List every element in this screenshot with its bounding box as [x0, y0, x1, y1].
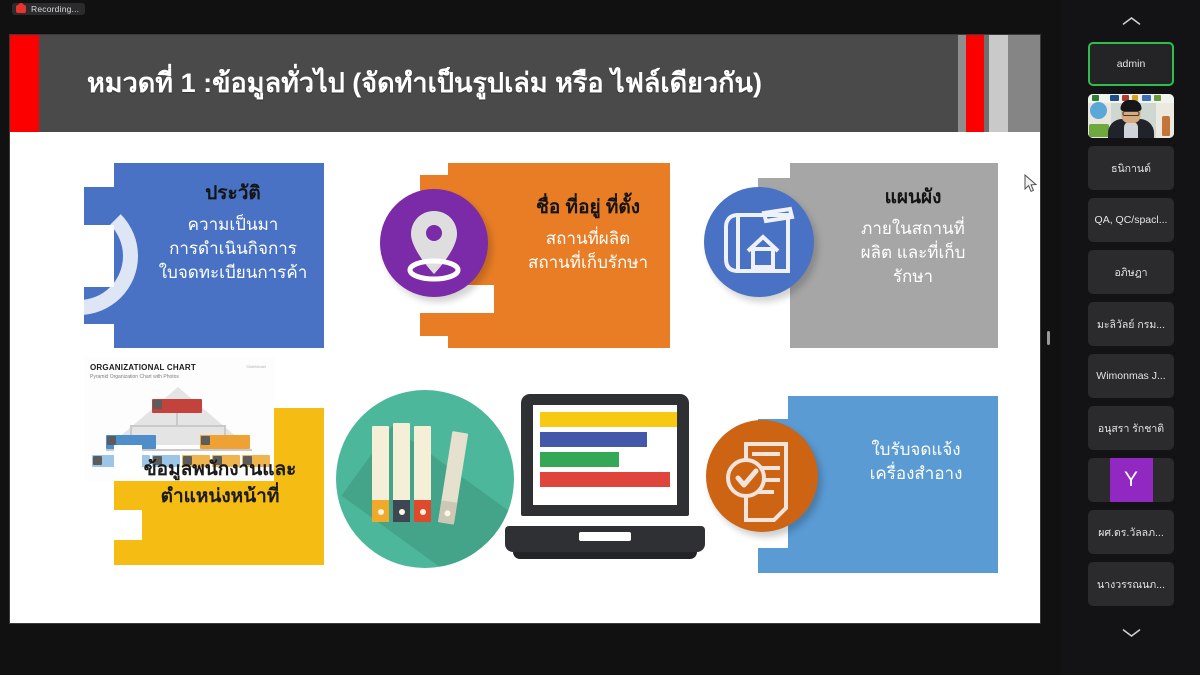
participant-tile-10[interactable]: ผศ.ดร.วัลลภ... — [1088, 510, 1174, 554]
slide-title-bar: หมวดที่ 1 :ข้อมูลทั่วไป (จัดทำเป็นรูปเล่… — [10, 35, 1040, 132]
participant-tile-4[interactable]: QA, QC/spacl... — [1088, 198, 1174, 242]
participant-tile-list: admin — [1088, 42, 1174, 606]
card-staff-line-1: ข้อมูลพนักงานและ — [120, 457, 320, 484]
card-history: ประวัติ ความเป็นมา การดำเนินกิจการ ใบจดท… — [84, 163, 324, 348]
participant-name: ธนิกานต์ — [1092, 160, 1170, 177]
participant-tile-6[interactable]: มะลิวัลย์ กรม... — [1088, 302, 1174, 346]
document-check-glyph — [706, 420, 818, 532]
card-certificate-line-2: เครื่องสำอาง — [828, 462, 1004, 486]
card-history-line-2: การดำเนินกิจการ — [138, 237, 328, 261]
participant-name: admin — [1094, 58, 1168, 70]
panel-resize-handle[interactable] — [1047, 331, 1050, 345]
laptop-screen-chart — [533, 405, 677, 505]
chart-bar-4 — [540, 472, 670, 487]
recording-label: Recording... — [31, 4, 79, 14]
card-certificate: ใบรับจดแจ้ง เครื่องสำอาง — [758, 396, 998, 573]
participant-tile-5[interactable]: อภิษฎา — [1088, 250, 1174, 294]
participant-tile-7[interactable]: Wimonmas J... — [1088, 354, 1174, 398]
card-location-line-2: สถานที่เก็บรักษา — [498, 251, 678, 275]
chart-bar-1 — [540, 412, 677, 427]
mouse-pointer — [1024, 174, 1038, 193]
laptop-lid — [521, 394, 689, 516]
chart-bar-3 — [540, 452, 619, 467]
orgchart-title: ORGANIZATIONAL CHART — [90, 363, 196, 372]
participant-video-feed — [1088, 94, 1174, 138]
card-history-line-1: ความเป็นมา — [138, 213, 328, 237]
blueprint-house-icon — [704, 187, 814, 297]
orgchart-brand: SlideModel — [246, 364, 266, 369]
document-check-icon — [706, 420, 818, 532]
participant-name: ผศ.ดร.วัลลภ... — [1092, 524, 1170, 541]
title-red-accent — [10, 35, 39, 132]
card-staff: ORGANIZATIONAL CHART Pyramid Organizatio… — [84, 365, 324, 565]
participant-tile-admin[interactable]: admin — [1088, 42, 1174, 86]
card-certificate-line-1: ใบรับจดแจ้ง — [828, 438, 1004, 462]
participant-name: อนุสรา รักชาติ — [1092, 420, 1170, 437]
record-camera-icon — [16, 5, 26, 13]
participants-filmstrip: admin — [1062, 0, 1200, 675]
slide-body: ประวัติ ความเป็นมา การดำเนินกิจการ ใบจดท… — [10, 132, 1040, 623]
participant-tile-9[interactable]: Y — [1088, 458, 1174, 502]
binders-icon — [336, 390, 514, 568]
participant-tile-3[interactable]: ธนิกานต์ — [1088, 146, 1174, 190]
laptop-chart-icon — [505, 394, 705, 566]
shared-content-stage[interactable]: หมวดที่ 1 :ข้อมูลทั่วไป (จัดทำเป็นรูปเล่… — [0, 22, 1062, 647]
history-clock-icon — [20, 197, 138, 315]
card-certificate-text: ใบรับจดแจ้ง เครื่องสำอาง — [828, 438, 1004, 486]
orgchart-subtitle: Pyramid Organization Chart with Photos — [90, 374, 179, 380]
card-plan-heading: แผนผัง — [826, 185, 1000, 212]
card-location-line-1: สถานที่ผลิต — [498, 227, 678, 251]
participant-tile-8[interactable]: อนุสรา รักชาติ — [1088, 406, 1174, 450]
card-location-text: ชื่อ ที่อยู่ ที่ตั้ง สถานที่ผลิต สถานที่… — [498, 195, 678, 275]
card-history-text: ประวัติ ความเป็นมา การดำเนินกิจการ ใบจดท… — [138, 181, 328, 285]
meeting-screen-share-window: Recording... หมวดที่ 1 :ข้อมูลทั่วไป (จั… — [0, 0, 1200, 675]
card-plan-line-1: ภายในสถานที่ — [826, 217, 1000, 241]
map-pin-glyph — [404, 207, 464, 283]
card-plan-text: แผนผัง ภายในสถานที่ ผลิต และที่เก็บ รักษ… — [826, 185, 1000, 289]
participant-name: มะลิวัลย์ กรม... — [1092, 316, 1170, 333]
participant-tile-11[interactable]: นางวรรณนภ... — [1088, 562, 1174, 606]
chevron-down-icon — [1122, 628, 1141, 638]
slide-title: หมวดที่ 1 :ข้อมูลทั่วไป (จัดทำเป็นรูปเล่… — [39, 68, 941, 99]
card-plan-line-2: ผลิต และที่เก็บ — [826, 241, 1000, 265]
card-plan-line-3: รักษา — [826, 265, 1000, 289]
participant-name: อภิษฎา — [1092, 264, 1170, 281]
card-staff-text: ข้อมูลพนักงานและ ตำแหน่งหน้าที่ — [120, 457, 320, 511]
card-history-heading: ประวัติ — [138, 181, 328, 208]
avatar: Y — [1110, 458, 1153, 502]
scroll-up-button[interactable] — [1062, 0, 1200, 42]
chevron-up-icon — [1122, 16, 1141, 26]
card-location-heading: ชื่อ ที่อยู่ ที่ตั้ง — [498, 195, 678, 222]
blueprint-house-glyph — [704, 187, 814, 297]
participant-name: QA, QC/spacl... — [1092, 214, 1170, 226]
chart-bar-2 — [540, 432, 647, 447]
participant-tile-video[interactable] — [1088, 94, 1174, 138]
participant-name: นางวรรณนภ... — [1092, 576, 1170, 593]
card-location: ชื่อ ที่อยู่ ที่ตั้ง สถานที่ผลิต สถานที่… — [420, 163, 670, 348]
presentation-slide: หมวดที่ 1 :ข้อมูลทั่วไป (จัดทำเป็นรูปเล่… — [10, 35, 1040, 623]
recording-indicator: Recording... — [12, 3, 85, 15]
card-history-line-3: ใบจดทะเบียนการค้า — [138, 261, 328, 285]
participant-name: Wimonmas J... — [1092, 370, 1170, 382]
card-staff-line-2: ตำแหน่งหน้าที่ — [120, 484, 320, 511]
laptop-trackpad — [579, 532, 631, 541]
map-pin-icon — [380, 189, 488, 297]
scroll-down-button[interactable] — [1062, 612, 1200, 654]
card-plan: แผนผัง ภายในสถานที่ ผลิต และที่เก็บ รักษ… — [758, 163, 998, 348]
title-stripe-decoration — [941, 35, 1040, 132]
laptop-base — [505, 526, 705, 552]
